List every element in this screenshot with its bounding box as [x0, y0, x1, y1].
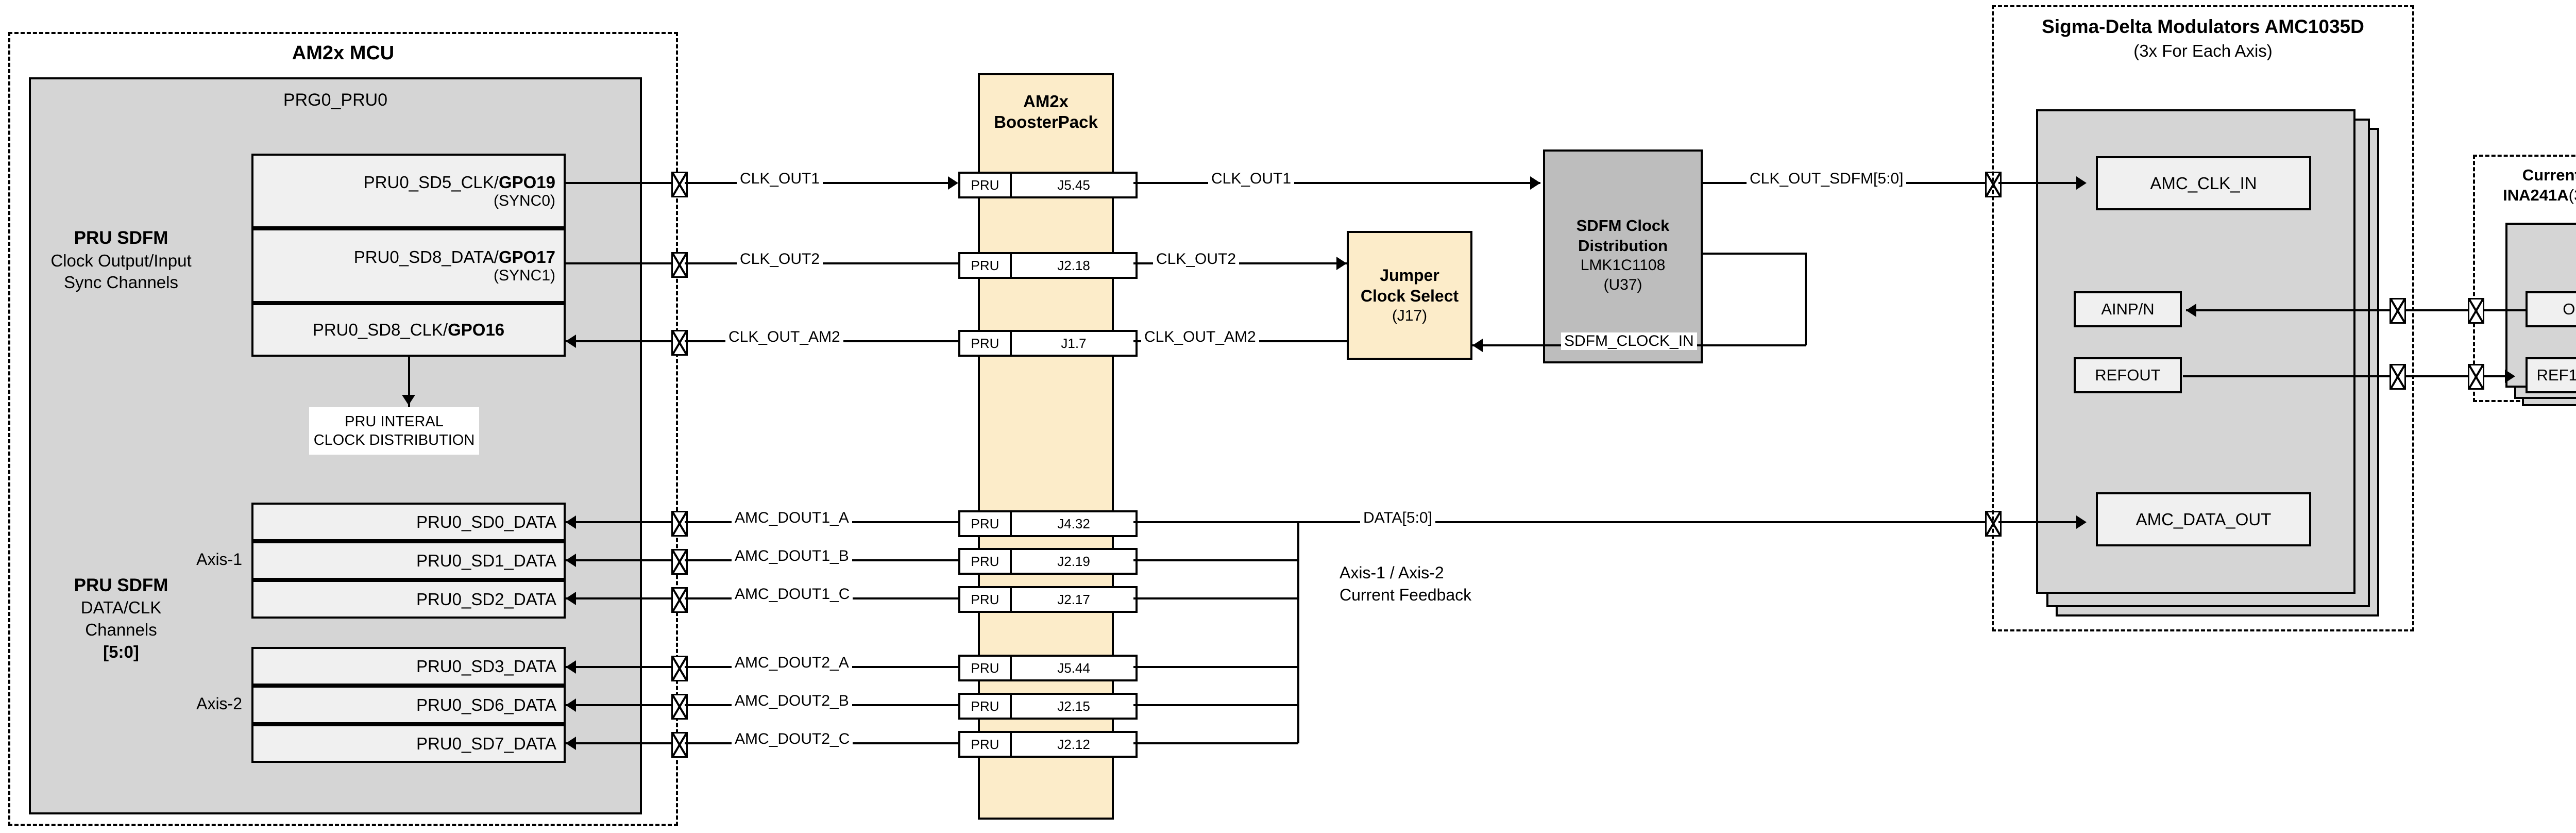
data-group-line1: PRU SDFM	[74, 574, 168, 597]
wire-dout1a-a	[566, 521, 680, 523]
bp-pin-4-right: J2.19	[1012, 550, 1136, 573]
internal-clock-arrow	[402, 395, 415, 405]
connector-dout1c	[671, 587, 688, 613]
bp-pin-6-left: PRU	[960, 657, 1012, 679]
signal-label-clk-out-sdfm: CLK_OUT_SDFM[5:0]	[1747, 170, 1906, 188]
signal-label-data-bus: DATA[5:0]	[1360, 509, 1435, 527]
connector-dout1a	[671, 511, 688, 537]
bp-pin-1-left: PRU	[960, 254, 1012, 277]
signal-label-dout1a: AMC_DOUT1_A	[732, 509, 852, 527]
bp-pin-8[interactable]: PRU J2.12	[958, 731, 1138, 758]
bp-pin-8-left: PRU	[960, 733, 1012, 756]
sense-amps-subtitle: (3x For Each Axis)	[2569, 186, 2576, 205]
sync-pin-stack: PRU0_SD5_CLK/GPO19 (SYNC0)	[251, 154, 566, 228]
wire-dout2c-a	[566, 742, 680, 744]
wire-data-into-modulator	[1998, 521, 2078, 523]
connector-clkoutam2	[671, 330, 688, 356]
bp-pin-1-right: J2.18	[1012, 254, 1136, 277]
signal-label-dout2a: AMC_DOUT2_A	[732, 654, 852, 672]
modulator-pin-refout[interactable]: REFOUT	[2074, 357, 2182, 393]
sync-pin-0-name: PRU0_SD5_CLK/	[364, 173, 499, 192]
diagram-canvas: AM2x MCU PRG0_PRU0 PRU SDFM Clock Output…	[0, 0, 2576, 833]
wire-bus-row4	[1133, 704, 1298, 706]
current-feedback-caption: Axis-1 / Axis-2 Current Feedback	[1340, 562, 1577, 606]
sync-pin-1[interactable]: PRU0_SD8_DATA/GPO17 (SYNC1)	[251, 228, 566, 303]
modulator-pin-amc-data-out[interactable]: AMC_DATA_OUT	[2096, 492, 2311, 546]
arrow-dout1c	[566, 592, 576, 605]
wire-bus-row1	[1133, 559, 1298, 561]
connector-dout2a	[671, 656, 688, 681]
wire-clkoutam2-a	[566, 340, 680, 342]
jumper-line1: Jumper	[1380, 265, 1439, 286]
signal-label-clkout2-right: CLK_OUT2	[1153, 251, 1239, 268]
arrow-data-into-modulator	[2076, 515, 2087, 529]
jumper-clock-select-text: Jumper Clock Select (J17)	[1347, 240, 1472, 351]
signal-label-clkoutam2-right: CLK_OUT_AM2	[1141, 328, 1259, 346]
sense-amp-pin-out[interactable]: OUT	[2526, 291, 2576, 327]
signal-label-sdfm-clock-in: SDFM_CLOCK_IN	[1561, 332, 1697, 350]
bp-pin-3[interactable]: PRU J4.32	[958, 510, 1138, 537]
sdfm-clock-distribution-text: SDFM Clock Distribution LMK1C1108 (U37)	[1543, 160, 1703, 351]
arrow-out-to-ainp	[2186, 304, 2196, 317]
modulator-pin-amc-clk-in[interactable]: AMC_CLK_IN	[2096, 156, 2311, 210]
bp-pin-5-right: J2.17	[1012, 588, 1136, 611]
data-pin-2[interactable]: PRU0_SD2_DATA	[251, 580, 566, 619]
data-pin-1[interactable]: PRU0_SD1_DATA	[251, 541, 566, 580]
boosterpack-title-line1: AM2x	[1023, 91, 1069, 112]
boosterpack-title-line2: BoosterPack	[994, 112, 1098, 132]
bp-pin-7-right: J2.15	[1012, 695, 1136, 718]
arrow-refout-to-ref	[2505, 370, 2515, 383]
clock-dist-line1: PRU INTERAL	[345, 412, 444, 431]
wire-bus-row5	[1133, 742, 1298, 744]
pru-internal-clock-distribution: PRU INTERAL CLOCK DISTRIBUTION	[309, 407, 479, 455]
clock-dist-chip-ref: (U37)	[1603, 275, 1642, 295]
jumper-ref: (J17)	[1392, 306, 1427, 326]
bp-pin-0-right: J5.45	[1012, 174, 1136, 196]
prg0-pru0-title: PRG0_PRU0	[29, 89, 642, 111]
data-pin-3[interactable]: PRU0_SD3_DATA	[251, 647, 566, 686]
signal-label-clkoutam2-left: CLK_OUT_AM2	[725, 328, 843, 346]
feedback-line1: Axis-1 / Axis-2	[1340, 562, 1577, 584]
arrow-clk-into-modulator	[2076, 176, 2087, 190]
bp-pin-8-right: J2.12	[1012, 733, 1136, 756]
boosterpack-title: AM2x BoosterPack	[978, 84, 1114, 140]
data-pin-5[interactable]: PRU0_SD7_DATA	[251, 724, 566, 763]
sense-amps-title: Current Sense Amps	[2473, 164, 2576, 187]
modulator-pin-ainp-n[interactable]: AINP/N	[2074, 291, 2182, 327]
arrow-dout2c	[566, 737, 576, 750]
bp-pin-7-left: PRU	[960, 695, 1012, 718]
data-pin-0[interactable]: PRU0_SD0_DATA	[251, 503, 566, 541]
axis-2-label: Axis-2	[170, 693, 242, 714]
modulators-subtitle: (3x For Each Axis)	[1992, 40, 2414, 62]
sync-pin-1-sub: (SYNC1)	[494, 267, 555, 285]
bp-pin-0-left: PRU	[960, 174, 1012, 196]
connector-ainp-left	[2389, 298, 2406, 324]
sync-pin-2[interactable]: PRU0_SD8_CLK/GPO16	[251, 303, 566, 357]
sense-amp-pin-ref[interactable]: REF1/REF2	[2526, 357, 2576, 393]
wire-dout2a-a	[566, 666, 680, 668]
sync-pin-0-sub: (SYNC0)	[494, 192, 555, 210]
connector-clkout1	[671, 172, 688, 197]
arrow-clkout2-to-jumper	[1336, 257, 1347, 270]
connector-clkout2	[671, 252, 688, 278]
bp-pin-3-right: J4.32	[1012, 512, 1136, 535]
wire-clkout2-a	[566, 262, 680, 264]
wire-dout1c-a	[566, 597, 680, 599]
am2x-mcu-title: AM2x MCU	[8, 41, 678, 65]
arrow-dout1a	[566, 515, 576, 529]
data-group-line3: Channels	[85, 619, 157, 641]
pru-sdfm-data-group-label: PRU SDFM DATA/CLK Channels [5:0]	[36, 557, 206, 680]
sync-pin-2-name: PRU0_SD8_CLK/	[313, 320, 448, 339]
connector-dout1b	[671, 549, 688, 575]
sync-pin-0[interactable]: PRU0_SD5_CLK/GPO19 (SYNC0)	[251, 154, 566, 228]
data-group-line2: DATA/CLK	[81, 597, 161, 619]
signal-label-dout1c: AMC_DOUT1_C	[732, 586, 853, 603]
arrow-clkout1-to-bp	[948, 176, 958, 190]
bp-pin-2[interactable]: PRU J1.7	[958, 330, 1138, 357]
wire-clkout1-a	[566, 182, 680, 184]
sync-group-line3: Sync Channels	[64, 272, 178, 293]
connector-dout2c	[671, 732, 688, 758]
wire-dout1b-a	[566, 559, 680, 561]
bp-pin-4[interactable]: PRU J2.19	[958, 548, 1138, 575]
pru-sdfm-sync-group-label: PRU SDFM Clock Output/Input Sync Channel…	[36, 211, 206, 309]
wire-sdfm-clock-in-top	[1703, 253, 1806, 255]
arrow-dout2b	[566, 698, 576, 712]
connector-ainp-right	[2468, 298, 2484, 324]
sync-pin-1-name: PRU0_SD8_DATA/	[354, 247, 499, 266]
bp-pin-3-left: PRU	[960, 512, 1012, 535]
sense-amps-part: INA241A	[2503, 186, 2569, 205]
data-group-line4: [5:0]	[103, 641, 139, 663]
sync-pin-0-gpo: GPO19	[499, 173, 555, 192]
wire-refout-to-ref	[2183, 375, 2510, 377]
wire-bus-row3	[1133, 666, 1298, 668]
bp-pin-2-left: PRU	[960, 332, 1012, 355]
wire-bp-clkout1	[1133, 182, 1540, 184]
bp-pin-4-left: PRU	[960, 550, 1012, 573]
sense-amps-subtitle-row: INA241A (3x For Each Axis)	[2473, 185, 2576, 206]
sync-group-line2: Clock Output/Input	[50, 250, 191, 272]
bp-pin-7[interactable]: PRU J2.15	[958, 693, 1138, 720]
arrow-dout1b	[566, 554, 576, 567]
sync-group-line1: PRU SDFM	[74, 227, 168, 250]
signal-label-dout1b: AMC_DOUT1_B	[732, 547, 852, 565]
signal-label-clkout1-right: CLK_OUT1	[1208, 170, 1294, 188]
jumper-line2: Clock Select	[1361, 286, 1459, 306]
clock-dist-chip-line1: SDFM Clock	[1577, 216, 1670, 236]
sync-pin-1-gpo: GPO17	[499, 247, 555, 266]
wire-bus-vertical	[1297, 521, 1299, 743]
bp-pin-2-right: J1.7	[1012, 332, 1136, 355]
clock-dist-chip-line2: Distribution	[1578, 236, 1668, 256]
bp-pin-5[interactable]: PRU J2.17	[958, 586, 1138, 613]
arrow-clkoutam2-to-mcu	[566, 335, 576, 348]
arrow-dout2a	[566, 660, 576, 674]
sync-pin-2-gpo: GPO16	[448, 320, 504, 339]
signal-label-clkout2-left: CLK_OUT2	[737, 251, 823, 268]
signal-label-dout2c: AMC_DOUT2_C	[732, 730, 853, 748]
wire-bus-row2	[1133, 597, 1298, 599]
signal-label-dout2b: AMC_DOUT2_B	[732, 692, 852, 710]
connector-ref-left	[2389, 364, 2406, 390]
bp-pin-1[interactable]: PRU J2.18	[958, 252, 1138, 279]
feedback-line2: Current Feedback	[1340, 584, 1577, 606]
arrow-clkout1-to-dist	[1530, 176, 1540, 190]
connector-ref-right	[2468, 364, 2484, 390]
bp-pin-5-left: PRU	[960, 588, 1012, 611]
arrow-sdfm-clock-in	[1472, 339, 1483, 352]
modulators-title: Sigma-Delta Modulators AMC1035D	[1992, 14, 2414, 39]
bp-pin-6[interactable]: PRU J5.44	[958, 655, 1138, 681]
wire-sdfm-clock-in-v	[1805, 253, 1807, 345]
clock-dist-chip-part: LMK1C1108	[1581, 256, 1666, 275]
data-pin-4[interactable]: PRU0_SD6_DATA	[251, 686, 566, 724]
bp-pin-6-right: J5.44	[1012, 657, 1136, 679]
connector-dout2b	[671, 694, 688, 720]
axis-1-label: Axis-1	[170, 549, 242, 570]
clock-dist-line2: CLOCK DISTRIBUTION	[314, 431, 475, 449]
bp-pin-0[interactable]: PRU J5.45	[958, 172, 1138, 198]
wire-dout2b-a	[566, 704, 680, 706]
wire-bus-row0	[1133, 521, 1298, 523]
wire-clk-into-modulator	[1998, 182, 2078, 184]
signal-label-clkout1-left: CLK_OUT1	[737, 170, 823, 188]
